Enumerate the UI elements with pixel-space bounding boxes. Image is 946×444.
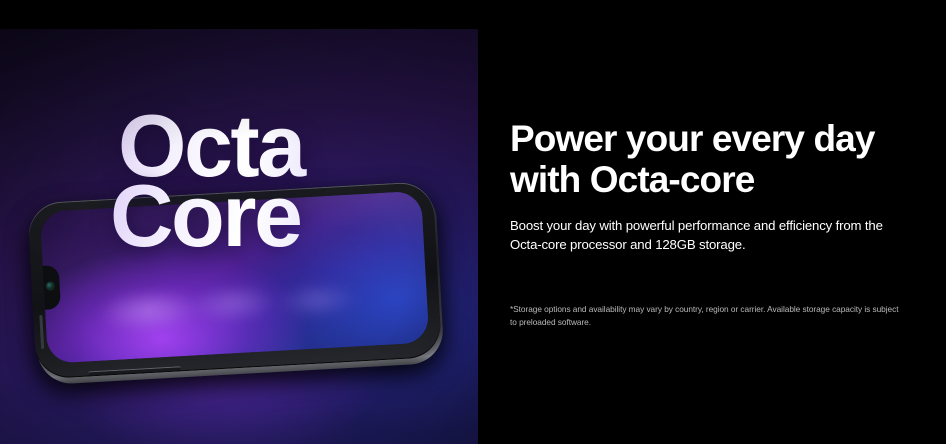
headline: Power your every day with Octa-core [510, 119, 910, 200]
phone-screen [40, 191, 430, 364]
subcopy-text: Boost your day with powerful performance… [510, 216, 892, 254]
disclaimer-text: *Storage options and availability may va… [510, 303, 906, 329]
headline-line-1: Power your every day [510, 119, 910, 160]
screen-glare [40, 191, 430, 364]
wordmark-reflection [100, 278, 403, 357]
promo-banner: Octa Core Power your every day with Octa… [0, 0, 946, 444]
smartphone-device [23, 174, 454, 397]
phone-body [27, 181, 442, 379]
earpiece-icon [39, 315, 44, 349]
headline-line-2: with Octa-core [510, 160, 910, 201]
hero-image-panel: Octa Core [0, 0, 478, 444]
copy-panel: Power your every day with Octa-core Boos… [478, 0, 946, 444]
hero-top-letterbox-bar [0, 0, 478, 29]
